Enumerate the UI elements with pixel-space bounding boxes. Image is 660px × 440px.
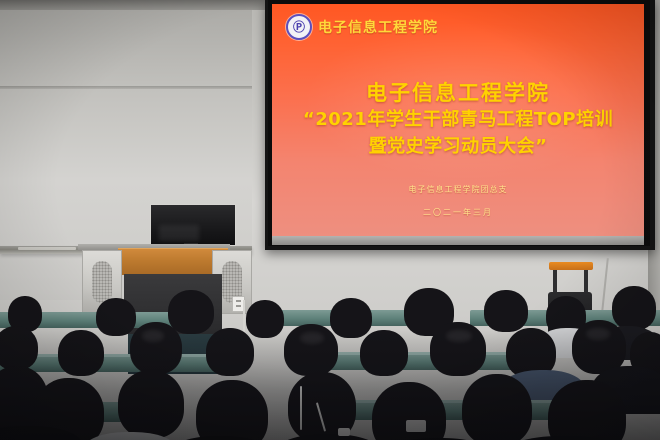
screen-bottom-band [272,236,644,245]
wall-seam [0,86,252,89]
hair-highlight [446,330,472,342]
logo-glyph: Ⓟ [293,21,305,33]
hair-highlight [586,328,610,340]
suitcase-handle-grip [549,262,593,270]
hair-highlight [300,332,324,344]
white-phone [338,428,350,436]
audience-head [484,290,528,332]
podium-monitor [150,204,236,246]
circled-p-emblem-icon: Ⓟ [286,14,312,40]
lecture-hall-photo: Ⓟ 电子信息工程学院 电子信息工程学院 “2021年学生干部青马工程TOP培训 … [0,0,660,440]
white-phone [406,420,426,432]
audience-head [118,370,184,438]
audience-head [246,300,284,338]
slide-footer: 电子信息工程学院团总支 二〇二一年三月 [272,184,644,218]
audience-head [168,290,214,334]
slide-department-line: 电子信息工程学院团总支 [272,184,644,195]
slide-title-block: 电子信息工程学院 “2021年学生干部青马工程TOP培训 暨党史学习动员大会” [272,80,644,159]
earbud-wire [300,386,302,430]
slide-org-name: 电子信息工程学院 [318,17,438,37]
audience-area [0,286,660,440]
audience-head [360,330,408,376]
audience-shoulders [276,434,380,440]
presentation-slide: Ⓟ 电子信息工程学院 电子信息工程学院 “2021年学生干部青马工程TOP培训 … [272,4,644,236]
audience-head [462,374,532,440]
audience-head [612,286,656,330]
audience-head [196,380,268,440]
audience-head [206,328,254,376]
slide-title-main: 电子信息工程学院 [272,80,644,106]
audience-head [58,330,104,376]
audience-head [548,380,626,440]
audience-head [330,298,372,338]
slide-header: Ⓟ 电子信息工程学院 [286,14,438,40]
audience-head [0,326,38,370]
slide-title-quote-line1: “2021年学生干部青马工程TOP培训 [272,108,644,132]
slide-date-line: 二〇二一年三月 [272,207,644,218]
slide-title-quote-line2: 暨党史学习动员大会” [272,135,644,159]
monitor-reflection [159,225,199,241]
hair-highlight [142,330,164,342]
audience-head [96,298,136,336]
